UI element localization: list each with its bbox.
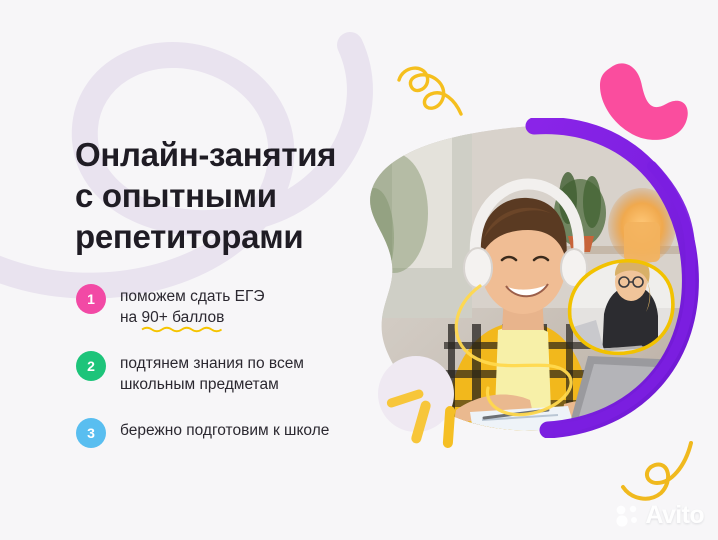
avito-logo-icon <box>615 504 641 528</box>
squiggle-decoration-bottom <box>613 437 703 509</box>
promo-banner: Онлайн-занятия с опытными репетиторами 1… <box>0 0 718 540</box>
squiggle-decoration-top <box>395 62 470 124</box>
feature-highlight-1-label: 90+ баллов <box>142 309 225 326</box>
feature-text-3: бережно подготовим к школе <box>120 417 329 441</box>
student-photo <box>352 118 700 438</box>
avito-watermark-label: Avito <box>645 501 704 530</box>
feature-highlight-1: 90+ баллов <box>142 307 225 328</box>
feature-badge-1: 1 <box>76 284 106 314</box>
avito-watermark: Avito <box>615 501 704 530</box>
feature-text-2: подтянем знания по всем школьным предмет… <box>120 350 304 395</box>
headline: Онлайн-занятия с опытными репетиторами <box>75 134 375 257</box>
feature-badge-3: 3 <box>76 418 106 448</box>
feature-badge-2: 2 <box>76 351 106 381</box>
feature-text-1: поможем сдать ЕГЭ на 90+ баллов <box>120 283 265 328</box>
